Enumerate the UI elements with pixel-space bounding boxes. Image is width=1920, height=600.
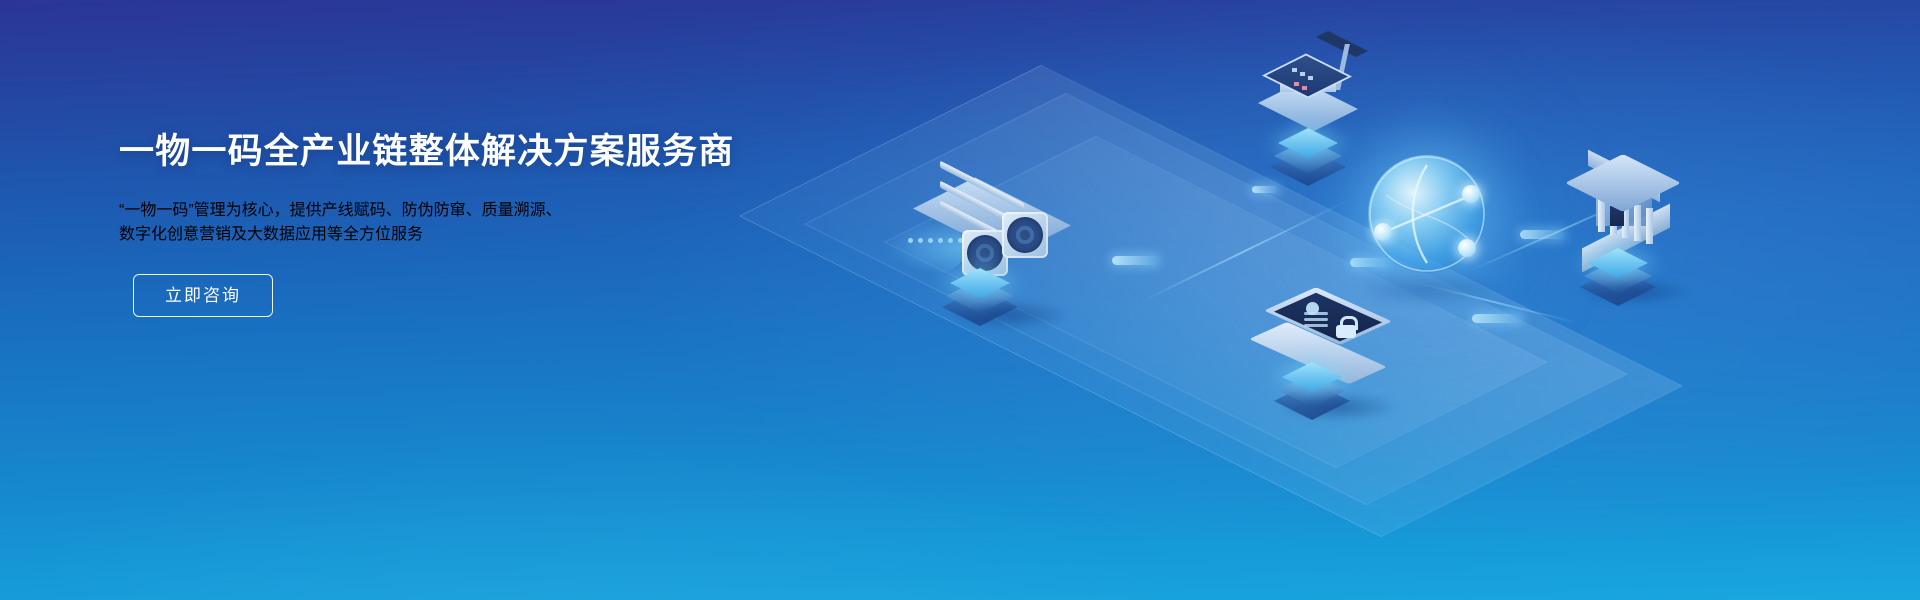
pos-terminal-icon xyxy=(1262,32,1382,142)
hero-copy-block: 一物一码全产业链整体解决方案服务商 “一物一码”管理为核心，提供产线赋码、防伪防… xyxy=(119,130,819,317)
consult-now-button[interactable]: 立即咨询 xyxy=(133,274,273,317)
network-sphere-icon xyxy=(1368,155,1486,273)
shadow-bank xyxy=(1580,278,1690,306)
pos-key xyxy=(1294,82,1299,86)
data-pulse-right xyxy=(1520,230,1564,239)
data-pulse-top xyxy=(1252,186,1278,193)
pedestal-pos xyxy=(1284,128,1346,168)
data-pulse-bottom-right xyxy=(1472,314,1522,323)
pos-keypad-panel xyxy=(1262,54,1352,99)
pos-key xyxy=(1292,68,1297,72)
fan-blades xyxy=(970,238,1000,268)
padlock-body xyxy=(1336,325,1356,338)
sphere-node-bottom-right xyxy=(1458,239,1476,257)
hero-banner: 一物一码全产业链整体解决方案服务商 “一物一码”管理为核心，提供产线赋码、防伪防… xyxy=(0,0,1920,600)
bank-column xyxy=(1634,205,1641,241)
pos-key xyxy=(1300,72,1305,76)
fan-hub xyxy=(1019,229,1031,241)
pos-key xyxy=(1308,76,1313,80)
platform-slab-middle xyxy=(804,93,1628,505)
bank-column xyxy=(1646,208,1653,244)
fan-hub xyxy=(979,247,991,259)
rack-fan-right xyxy=(1002,212,1048,258)
bank-roof xyxy=(1565,154,1681,212)
data-pulse-left xyxy=(1112,256,1158,265)
hero-subtitle-line-1: “一物一码”管理为核心，提供产线赋码、防伪防窜、质量溯源、 xyxy=(119,196,819,220)
platform-slab-outer xyxy=(739,65,1683,537)
shadow-server xyxy=(950,300,1070,330)
shadow-laptop xyxy=(1278,392,1398,422)
pos-key xyxy=(1302,86,1307,90)
padlock-icon xyxy=(1336,316,1356,338)
sphere-node-top-right xyxy=(1462,185,1480,203)
laptop-text-lines xyxy=(1304,312,1328,330)
connector-beam-left xyxy=(1141,200,1349,303)
hero-subtitle-line-2: 数字化创意营销及大数据应用等全方位服务 xyxy=(119,220,819,244)
iot-network-illustration xyxy=(880,0,1920,600)
sphere-node-left xyxy=(1374,223,1392,241)
cta-wrapper: 立即咨询 xyxy=(119,274,819,317)
fan-blades xyxy=(1010,220,1040,250)
page-title: 一物一码全产业链整体解决方案服务商 xyxy=(119,130,819,174)
